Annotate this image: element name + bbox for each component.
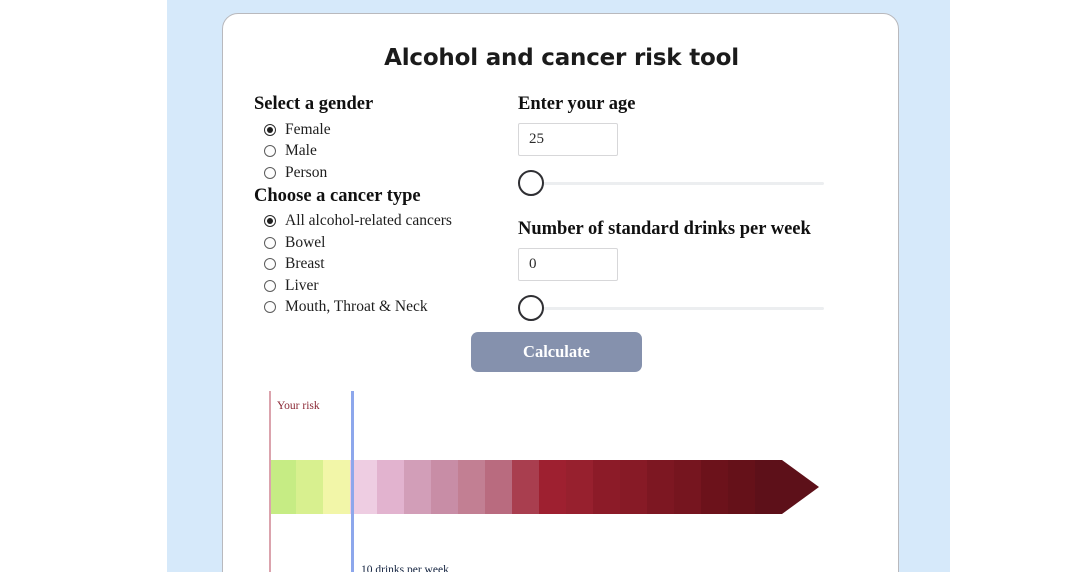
- radio-label-bowel: Bowel: [285, 234, 325, 252]
- radio-gender-female[interactable]: Female: [264, 119, 514, 141]
- radio-icon-liver[interactable]: [264, 280, 276, 292]
- age-heading: Enter your age: [518, 94, 858, 115]
- risk-chart: Your risk 10 drinks per week: [223, 378, 900, 572]
- risk-segment-1: [296, 460, 323, 514]
- radio-label-person: Person: [285, 164, 327, 182]
- risk-segment-16: [701, 460, 728, 514]
- risk-segment-7: [458, 460, 485, 514]
- tool-card: Alcohol and cancer risk tool Select a ge…: [222, 13, 899, 572]
- radio-label-all-cancers: All alcohol-related cancers: [285, 212, 452, 230]
- risk-segment-17: [728, 460, 755, 514]
- radio-cancer-all[interactable]: All alcohol-related cancers: [264, 211, 514, 233]
- risk-segment-15: [674, 460, 701, 514]
- risk-segment-2: [323, 460, 350, 514]
- risk-segment-9: [512, 460, 539, 514]
- risk-segment-13: [620, 460, 647, 514]
- calculate-button[interactable]: Calculate: [471, 332, 642, 372]
- age-input[interactable]: [518, 123, 618, 156]
- radio-label-male: Male: [285, 142, 317, 160]
- drinks-marker-label: 10 drinks per week: [361, 564, 449, 572]
- risk-segment-8: [485, 460, 512, 514]
- drinks-slider[interactable]: [518, 294, 824, 322]
- risk-segment-3: [350, 460, 377, 514]
- radio-cancer-bowel[interactable]: Bowel: [264, 232, 514, 254]
- risk-arrow-tip: [782, 460, 819, 514]
- radio-icon-bowel[interactable]: [264, 237, 276, 249]
- risk-segment-12: [593, 460, 620, 514]
- radio-icon-mouth-throat-neck[interactable]: [264, 301, 276, 313]
- age-slider-thumb[interactable]: [518, 170, 544, 196]
- radio-gender-male[interactable]: Male: [264, 141, 514, 163]
- app-root: Alcohol and cancer risk tool Select a ge…: [0, 0, 1090, 572]
- your-risk-label: Your risk: [277, 400, 320, 412]
- risk-segment-5: [404, 460, 431, 514]
- radio-cancer-breast[interactable]: Breast: [264, 254, 514, 276]
- radio-gender-person[interactable]: Person: [264, 162, 514, 184]
- radio-cancer-liver[interactable]: Liver: [264, 275, 514, 297]
- cancer-type-heading: Choose a cancer type: [254, 186, 514, 207]
- right-column: Enter your age Number of standard drinks…: [518, 94, 858, 322]
- radio-icon-all-cancers[interactable]: [264, 215, 276, 227]
- radio-icon-person[interactable]: [264, 167, 276, 179]
- risk-segment-0: [269, 460, 296, 514]
- radio-cancer-mouth-throat-neck[interactable]: Mouth, Throat & Neck: [264, 297, 514, 319]
- radio-label-breast: Breast: [285, 255, 325, 273]
- risk-segment-6: [431, 460, 458, 514]
- field-spacer: [518, 197, 858, 219]
- your-risk-marker-line: [269, 391, 271, 572]
- gender-heading: Select a gender: [254, 94, 514, 115]
- drinks-slider-thumb[interactable]: [518, 295, 544, 321]
- age-slider[interactable]: [518, 169, 824, 197]
- drinks-heading: Number of standard drinks per week: [518, 219, 858, 240]
- radio-icon-male[interactable]: [264, 145, 276, 157]
- page-title: Alcohol and cancer risk tool: [223, 45, 900, 71]
- radio-label-mouth-throat-neck: Mouth, Throat & Neck: [285, 298, 428, 316]
- age-slider-track[interactable]: [518, 182, 824, 185]
- drinks-input[interactable]: [518, 248, 618, 281]
- risk-segment-10: [539, 460, 566, 514]
- risk-segment-18: [755, 460, 782, 514]
- risk-segment-14: [647, 460, 674, 514]
- radio-icon-breast[interactable]: [264, 258, 276, 270]
- radio-icon-female[interactable]: [264, 124, 276, 136]
- left-column: Select a gender Female Male Person Choos…: [254, 94, 514, 318]
- drinks-slider-track[interactable]: [518, 307, 824, 310]
- radio-label-female: Female: [285, 121, 331, 139]
- radio-label-liver: Liver: [285, 277, 319, 295]
- risk-segment-11: [566, 460, 593, 514]
- drinks-marker-line: [351, 391, 354, 572]
- risk-segment-4: [377, 460, 404, 514]
